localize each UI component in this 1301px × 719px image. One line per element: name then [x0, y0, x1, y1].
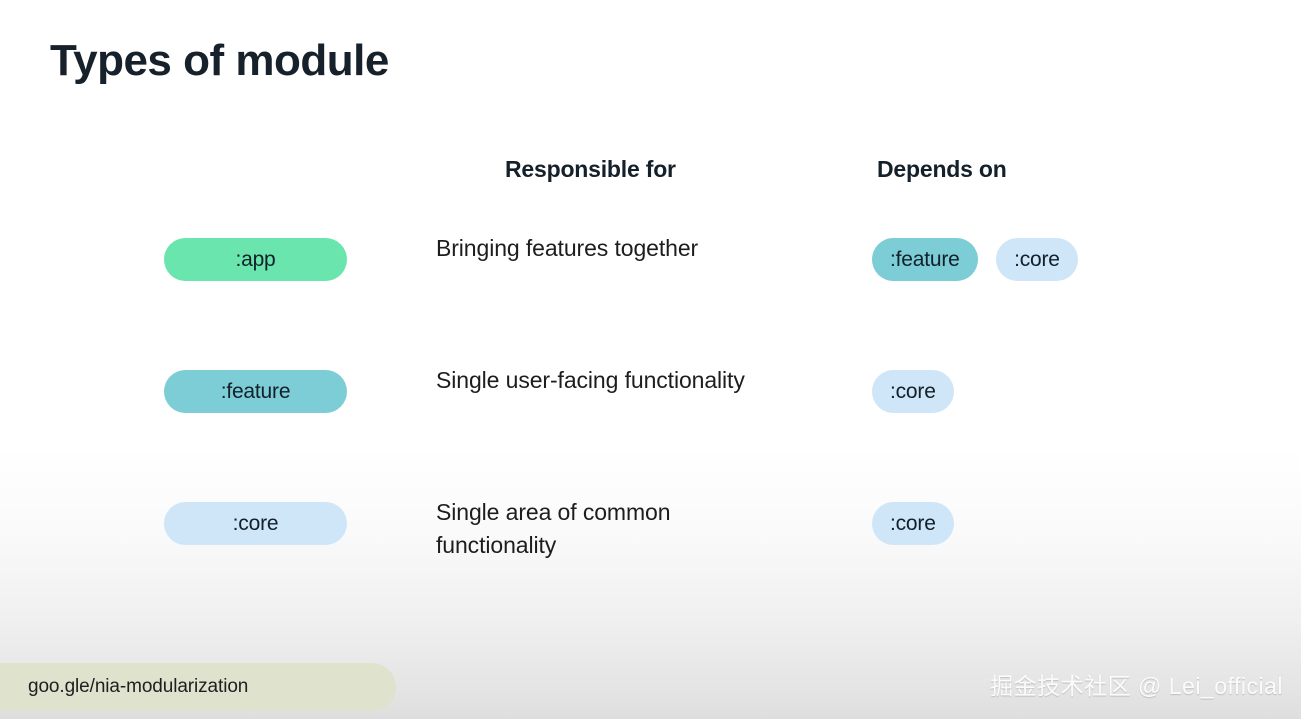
- watermark: 掘金技术社区 @ Lei_official: [990, 667, 1283, 701]
- table-row: :core Single area of common functionalit…: [0, 502, 1301, 562]
- depends-on-cell: :feature :core: [872, 238, 1272, 281]
- footer-link-chip[interactable]: goo.gle/nia-modularization: [0, 663, 396, 711]
- depends-on-cell: :core: [872, 502, 1272, 545]
- module-pill-app[interactable]: :app: [164, 238, 347, 281]
- column-header-responsible-for: Responsible for: [505, 156, 676, 183]
- module-pill-core[interactable]: :core: [164, 502, 347, 545]
- footer-link-text: goo.gle/nia-modularization: [28, 676, 248, 698]
- responsible-for-text: Bringing features together: [436, 232, 766, 265]
- module-cell: :core: [164, 502, 347, 545]
- module-pill-feature[interactable]: :feature: [164, 370, 347, 413]
- table-row: :app Bringing features together :feature…: [0, 238, 1301, 298]
- module-types-table: Responsible for Depends on :app Bringing…: [0, 0, 1301, 719]
- module-cell: :feature: [164, 370, 347, 413]
- table-row: :feature Single user-facing functionalit…: [0, 370, 1301, 430]
- dependency-pill-feature[interactable]: :feature: [872, 238, 978, 281]
- depends-on-cell: :core: [872, 370, 1272, 413]
- dependency-pill-core[interactable]: :core: [996, 238, 1078, 281]
- responsible-for-text: Single area of common functionality: [436, 496, 766, 562]
- module-cell: :app: [164, 238, 347, 281]
- dependency-pill-core[interactable]: :core: [872, 502, 954, 545]
- dependency-pill-core[interactable]: :core: [872, 370, 954, 413]
- column-header-depends-on: Depends on: [877, 156, 1007, 183]
- responsible-for-text: Single user-facing functionality: [436, 364, 766, 397]
- slide-canvas: Types of module Responsible for Depends …: [0, 0, 1301, 719]
